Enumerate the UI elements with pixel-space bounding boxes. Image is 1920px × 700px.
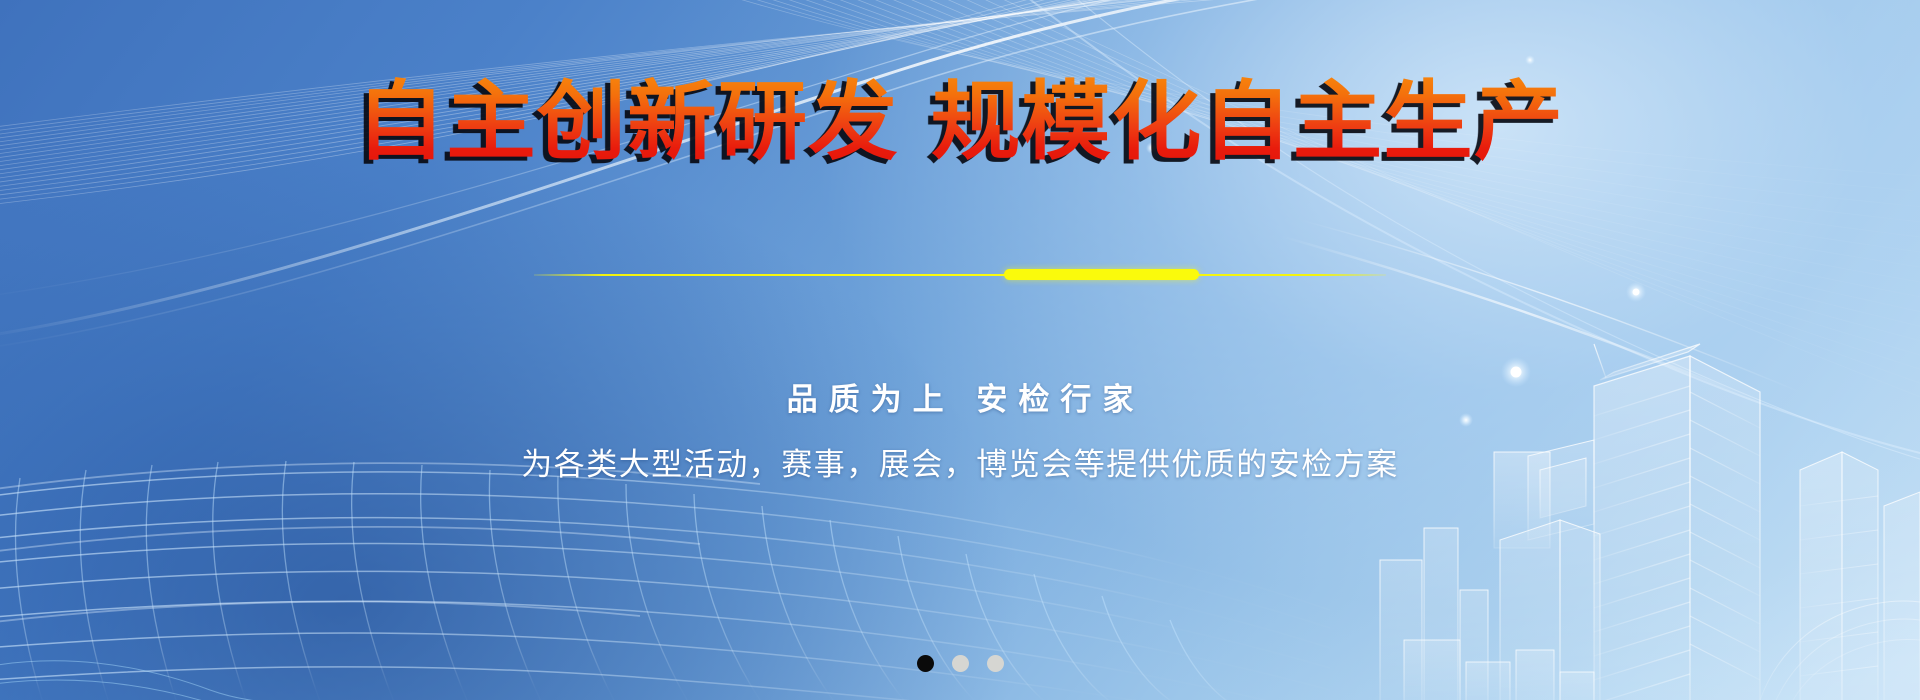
carousel-indicators[interactable] (0, 655, 1920, 672)
subtitle-container: 品质为上 安检行家 为各类大型活动，赛事，展会，博览会等提供优质的安检方案 (0, 378, 1920, 486)
slogan-text: 品质为上 安检行家 (0, 378, 1920, 422)
carousel-dot-2[interactable] (952, 655, 969, 672)
carousel-dot-3[interactable] (987, 655, 1004, 672)
headline-title: 自主创新研发 规模化自主生产 (356, 74, 1564, 170)
carousel-dot-1[interactable] (917, 655, 934, 672)
hero-banner: 自主创新研发 规模化自主生产 品质为上 安检行家 为各类大型活动，赛事，展会，博… (0, 0, 1920, 700)
divider-accent-bar (1004, 269, 1199, 280)
divider-line (534, 266, 1386, 284)
headline-container: 自主创新研发 规模化自主生产 (0, 74, 1920, 170)
divider (0, 266, 1920, 284)
divider-hairline (534, 274, 1386, 276)
description-text: 为各类大型活动，赛事，展会，博览会等提供优质的安检方案 (0, 444, 1920, 486)
